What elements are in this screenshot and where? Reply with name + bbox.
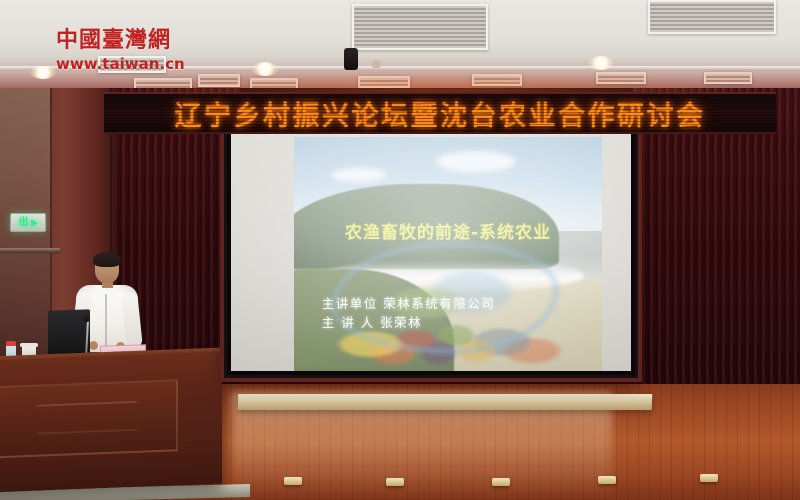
ceiling-vent <box>358 76 410 88</box>
stage-ledge <box>238 394 653 410</box>
speaker-hand-left <box>89 341 98 350</box>
floor-light <box>284 477 302 485</box>
floor-light <box>700 474 718 482</box>
slide-cloud <box>331 168 386 182</box>
wall-rail <box>0 248 60 253</box>
ceiling-vent <box>648 0 776 34</box>
exit-sign: 出 <box>10 213 46 232</box>
ceiling-downlight <box>252 62 278 76</box>
ceiling-fixture <box>372 60 381 68</box>
exit-sign-label: 出 <box>19 218 29 228</box>
podium <box>0 352 222 493</box>
ceiling-vent <box>472 74 522 86</box>
ceiling-vent <box>352 4 488 50</box>
slide-title: 农渔畜牧的前途-系统农业 <box>294 218 602 243</box>
floor-light <box>598 476 616 484</box>
conference-hall-photo: 中國臺灣網 www.taiwan.cn 出 辽宁乡村振兴论坛暨沈台农业合作研讨会 <box>0 0 800 500</box>
cup-lid <box>20 343 38 347</box>
slide-subtitle-line-2: 主 讲 人 张荣林 <box>322 312 422 331</box>
microphone-icon <box>83 312 90 322</box>
floor-light <box>386 478 404 486</box>
led-banner-text: 辽宁乡村振兴论坛暨沈台农业合作研讨会 <box>175 94 706 133</box>
watermark-url: www.taiwan.cn <box>56 55 185 73</box>
projection-screen: 农渔畜牧的前途-系统农业 主讲单位 荣林系统有限公司 主 讲 人 张荣林 <box>224 126 638 378</box>
exit-arrow-icon <box>31 219 38 227</box>
ceiling-vent <box>704 72 752 84</box>
ceiling-vent <box>596 72 646 84</box>
ceiling-downlight <box>30 66 56 79</box>
led-banner: 辽宁乡村振兴论坛暨沈台农业合作研讨会 <box>104 92 776 134</box>
projection-screen-surface: 农渔畜牧的前途-系统农业 主讲单位 荣林系统有限公司 主 讲 人 张荣林 <box>231 133 631 371</box>
slide-subtitle-line-1: 主讲单位 荣林系统有限公司 <box>322 293 495 312</box>
glasses-icon <box>96 265 118 270</box>
watermark: 中國臺灣網 www.taiwan.cn <box>56 22 185 73</box>
projector <box>344 48 358 70</box>
ceiling-vent <box>198 74 240 87</box>
watermark-site-name: 中國臺灣網 <box>56 22 185 54</box>
speaker-shirt-placket <box>105 294 107 350</box>
ceiling-downlight <box>588 56 614 70</box>
floor-light <box>492 478 510 486</box>
projected-slide: 农渔畜牧的前途-系统农业 主讲单位 荣林系统有限公司 主 讲 人 张荣林 <box>294 137 602 371</box>
